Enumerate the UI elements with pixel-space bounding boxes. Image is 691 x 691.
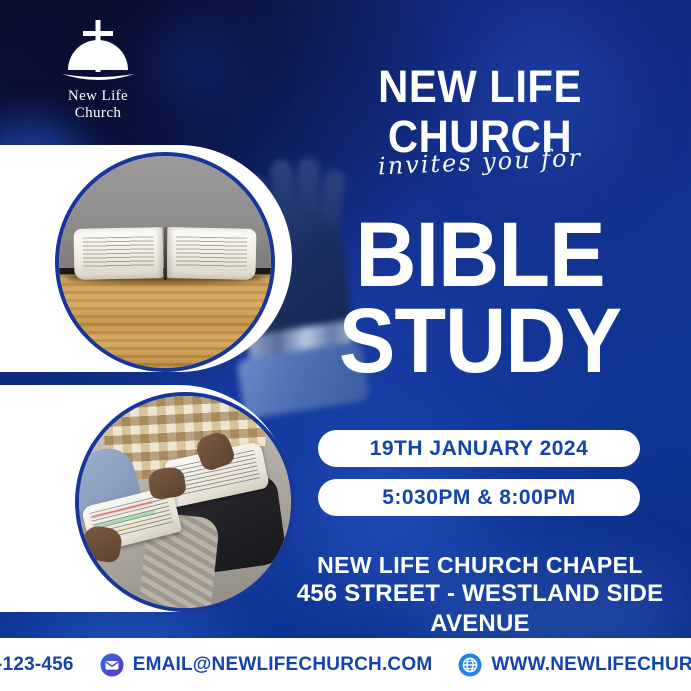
- logo-line-2: Church: [52, 105, 144, 122]
- venue-name: NEW LIFE CHURCH CHAPEL: [280, 552, 680, 579]
- open-bible-on-pew-photo: [55, 152, 275, 372]
- headline-line-2: STUDY: [305, 298, 655, 384]
- venue-block: NEW LIFE CHURCH CHAPEL 456 STREET - WEST…: [280, 552, 680, 639]
- contact-phone[interactable]: 3124-123-456: [0, 653, 74, 677]
- website-url-label: WWW.NEWLIFECHURCH.COM: [491, 654, 691, 676]
- event-time-pill: 5:030PM & 8:00PM: [318, 479, 640, 516]
- event-date-label: 19TH JANUARY 2024: [370, 437, 589, 461]
- event-date-pill: 19TH JANUARY 2024: [318, 430, 640, 467]
- email-address-label: EMAIL@NEWLIFECHURCH.COM: [133, 654, 433, 676]
- church-logo: New Life Church: [52, 18, 144, 128]
- globe-icon: [458, 653, 482, 677]
- event-headline: BIBLE STUDY: [305, 212, 655, 384]
- venue-address: 456 STREET - WESTLAND SIDE AVENUE: [280, 579, 680, 639]
- contact-footer-bar: 3124-123-456 EMAIL@NEWLIFECHURCH.COM: [0, 638, 691, 691]
- contact-website[interactable]: WWW.NEWLIFECHURCH.COM: [458, 653, 691, 677]
- church-event-flyer: New Life Church NEW LIFE CHURCH invites …: [0, 0, 691, 691]
- logo-line-1: New Life: [52, 88, 144, 105]
- email-icon: [100, 653, 124, 677]
- headline-line-1: BIBLE: [305, 212, 655, 298]
- people-reading-bibles-photo: [75, 392, 295, 612]
- phone-number-label: 3124-123-456: [0, 654, 74, 676]
- event-time-label: 5:030PM & 8:00PM: [382, 486, 576, 510]
- church-cross-dome-logo-icon: [52, 18, 144, 88]
- contact-email[interactable]: EMAIL@NEWLIFECHURCH.COM: [100, 653, 433, 677]
